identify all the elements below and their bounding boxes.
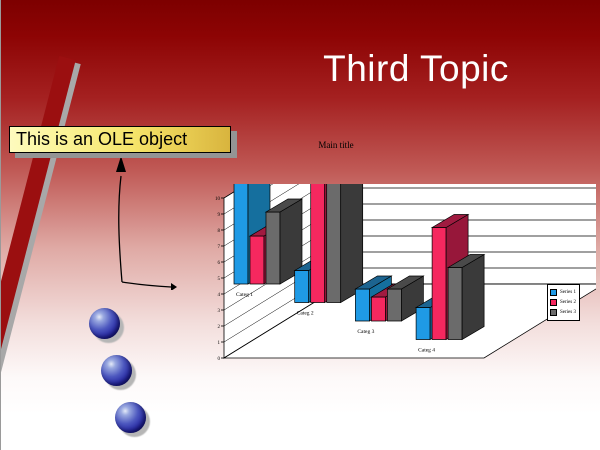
category-axis-label: Categ 2 — [297, 311, 314, 317]
legend-label-series-1: Series 1 — [560, 289, 576, 296]
presentation-slide: Third Topic Main title 012345678910Categ… — [0, 0, 600, 450]
chart-bar-front-series-2 — [371, 297, 385, 321]
chart-legend: Series 1 Series 2 Series 3 — [547, 284, 580, 321]
chart-bar-front-series-2 — [311, 184, 325, 303]
category-axis-label: Categ 4 — [418, 348, 435, 354]
value-axis-label: 9 — [218, 213, 221, 218]
chart-title: Main title — [206, 140, 466, 150]
legend-item: Series 3 — [550, 308, 576, 317]
legend-swatch-series-2 — [550, 299, 557, 306]
legend-swatch-series-3 — [550, 309, 557, 316]
value-axis-label: 1 — [218, 341, 221, 346]
chart-bar-front-series-1 — [355, 289, 369, 321]
legend-item: Series 2 — [550, 298, 576, 307]
slide-title: Third Topic — [251, 48, 581, 90]
chart-bar-front-series-3 — [387, 289, 401, 321]
sphere-ball — [89, 308, 120, 339]
value-axis-label: 6 — [218, 261, 221, 266]
legend-item: Series 1 — [550, 288, 576, 297]
sphere-ball — [115, 402, 146, 433]
decorative-sphere — [115, 402, 149, 436]
chart-plot-area: 012345678910Categ 1Categ 2Categ 3Categ 4 — [206, 184, 596, 432]
legend-swatch-series-1 — [550, 289, 557, 296]
sphere-ball — [101, 355, 132, 386]
ole-object-callout[interactable]: This is an OLE object — [9, 126, 231, 153]
chart-bar-front-series-3 — [327, 184, 341, 303]
chart-bar-front-series-3 — [448, 268, 462, 340]
curved-arrow-icon — [105, 150, 215, 290]
chart-bar-front-series-1 — [234, 184, 248, 284]
value-axis-label: 10 — [215, 197, 221, 202]
value-axis-label: 3 — [218, 309, 221, 314]
value-axis-label: 4 — [218, 293, 221, 298]
value-axis-label: 2 — [218, 325, 221, 330]
chart-bar-side — [462, 255, 484, 340]
chart-bar-side — [341, 184, 363, 303]
value-axis-label: 8 — [218, 229, 221, 234]
chart-bar-front-series-2 — [432, 228, 446, 340]
value-axis-label: 7 — [218, 245, 221, 250]
callout-body[interactable]: This is an OLE object — [9, 126, 231, 153]
decorative-sphere — [101, 355, 135, 389]
callout-text: This is an OLE object — [10, 129, 187, 150]
chart-bar-front-series-1 — [295, 271, 309, 303]
legend-label-series-2: Series 2 — [560, 299, 576, 306]
value-axis-label: 5 — [218, 277, 221, 282]
embedded-chart-object[interactable]: Main title 012345678910Categ 1Categ 2Cat… — [206, 132, 596, 432]
decorative-sphere — [89, 308, 123, 342]
value-axis-label: 0 — [218, 357, 221, 362]
category-axis-label: Categ 1 — [236, 292, 253, 298]
chart-bar-front-series-3 — [266, 212, 280, 284]
chart-bar-front-series-1 — [416, 308, 430, 340]
legend-label-series-3: Series 3 — [560, 309, 576, 316]
chart-bar-front-series-2 — [250, 236, 264, 284]
category-axis-label: Categ 3 — [357, 329, 374, 335]
